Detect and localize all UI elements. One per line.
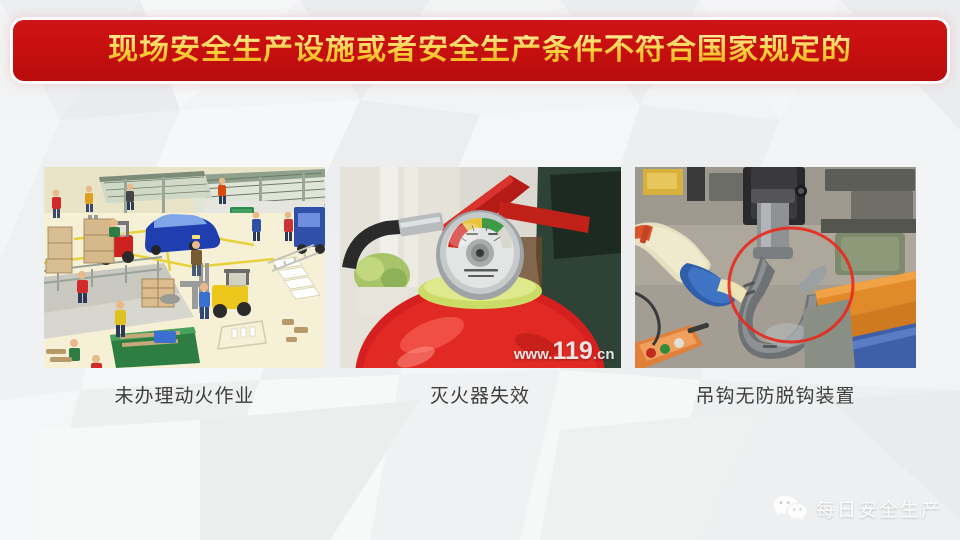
- watermark: 每日安全生产: [773, 494, 942, 522]
- photo-fire-extinguisher: www.119.cn: [340, 167, 621, 368]
- photo-crane-hook: [635, 167, 916, 368]
- watermark-suffix: .cn: [593, 346, 615, 363]
- watermark-prefix: www.: [514, 346, 553, 363]
- title-banner: 现场安全生产设施或者安全生产条件不符合国家规定的: [13, 20, 947, 81]
- wechat-icon: [773, 494, 807, 522]
- caption-crane-hook: 吊钩无防脱钩装置: [635, 385, 916, 408]
- photo-watermark-119: www.119.cn: [514, 339, 615, 364]
- page-title: 现场安全生产设施或者安全生产条件不符合国家规定的: [108, 35, 852, 67]
- caption-row: 未办理动火作业 灭火器失效 吊钩无防脱钩装置: [44, 385, 916, 408]
- warehouse-illustration-art: [44, 167, 325, 368]
- watermark-text: 每日安全生产: [816, 495, 942, 522]
- caption-fire-extinguisher: 灭火器失效: [340, 385, 621, 408]
- photo-row: www.119.cn: [44, 167, 916, 368]
- caption-warehouse: 未办理动火作业: [44, 385, 325, 408]
- slide-canvas: 现场安全生产设施或者安全生产条件不符合国家规定的: [0, 0, 960, 540]
- watermark-number: 119: [552, 337, 592, 365]
- crane-hook-art: [635, 167, 916, 368]
- photo-warehouse-illustration: [44, 167, 325, 368]
